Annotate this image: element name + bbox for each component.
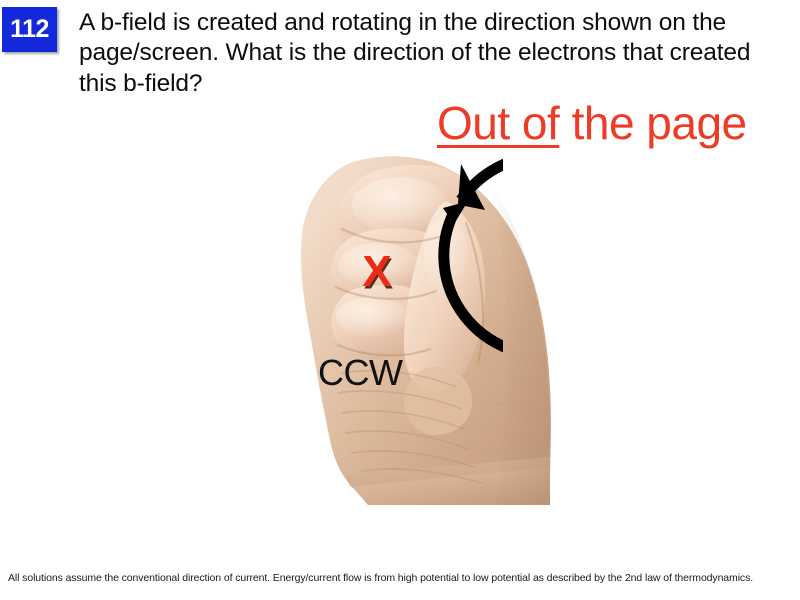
rotation-arrow-head	[443, 164, 485, 224]
field-direction-x-marker: X X	[352, 248, 404, 300]
answer-rest-part: the page	[559, 97, 746, 149]
slide-number-value: 112	[10, 17, 49, 42]
svg-text:X: X	[362, 248, 391, 296]
slide-number-badge: 112	[2, 7, 57, 52]
ccw-label: CCW	[318, 355, 402, 391]
footer-disclaimer: All solutions assume the conventional di…	[8, 571, 794, 586]
rotation-arc	[444, 156, 503, 356]
question-text: A b-field is created and rotating in the…	[79, 8, 769, 99]
